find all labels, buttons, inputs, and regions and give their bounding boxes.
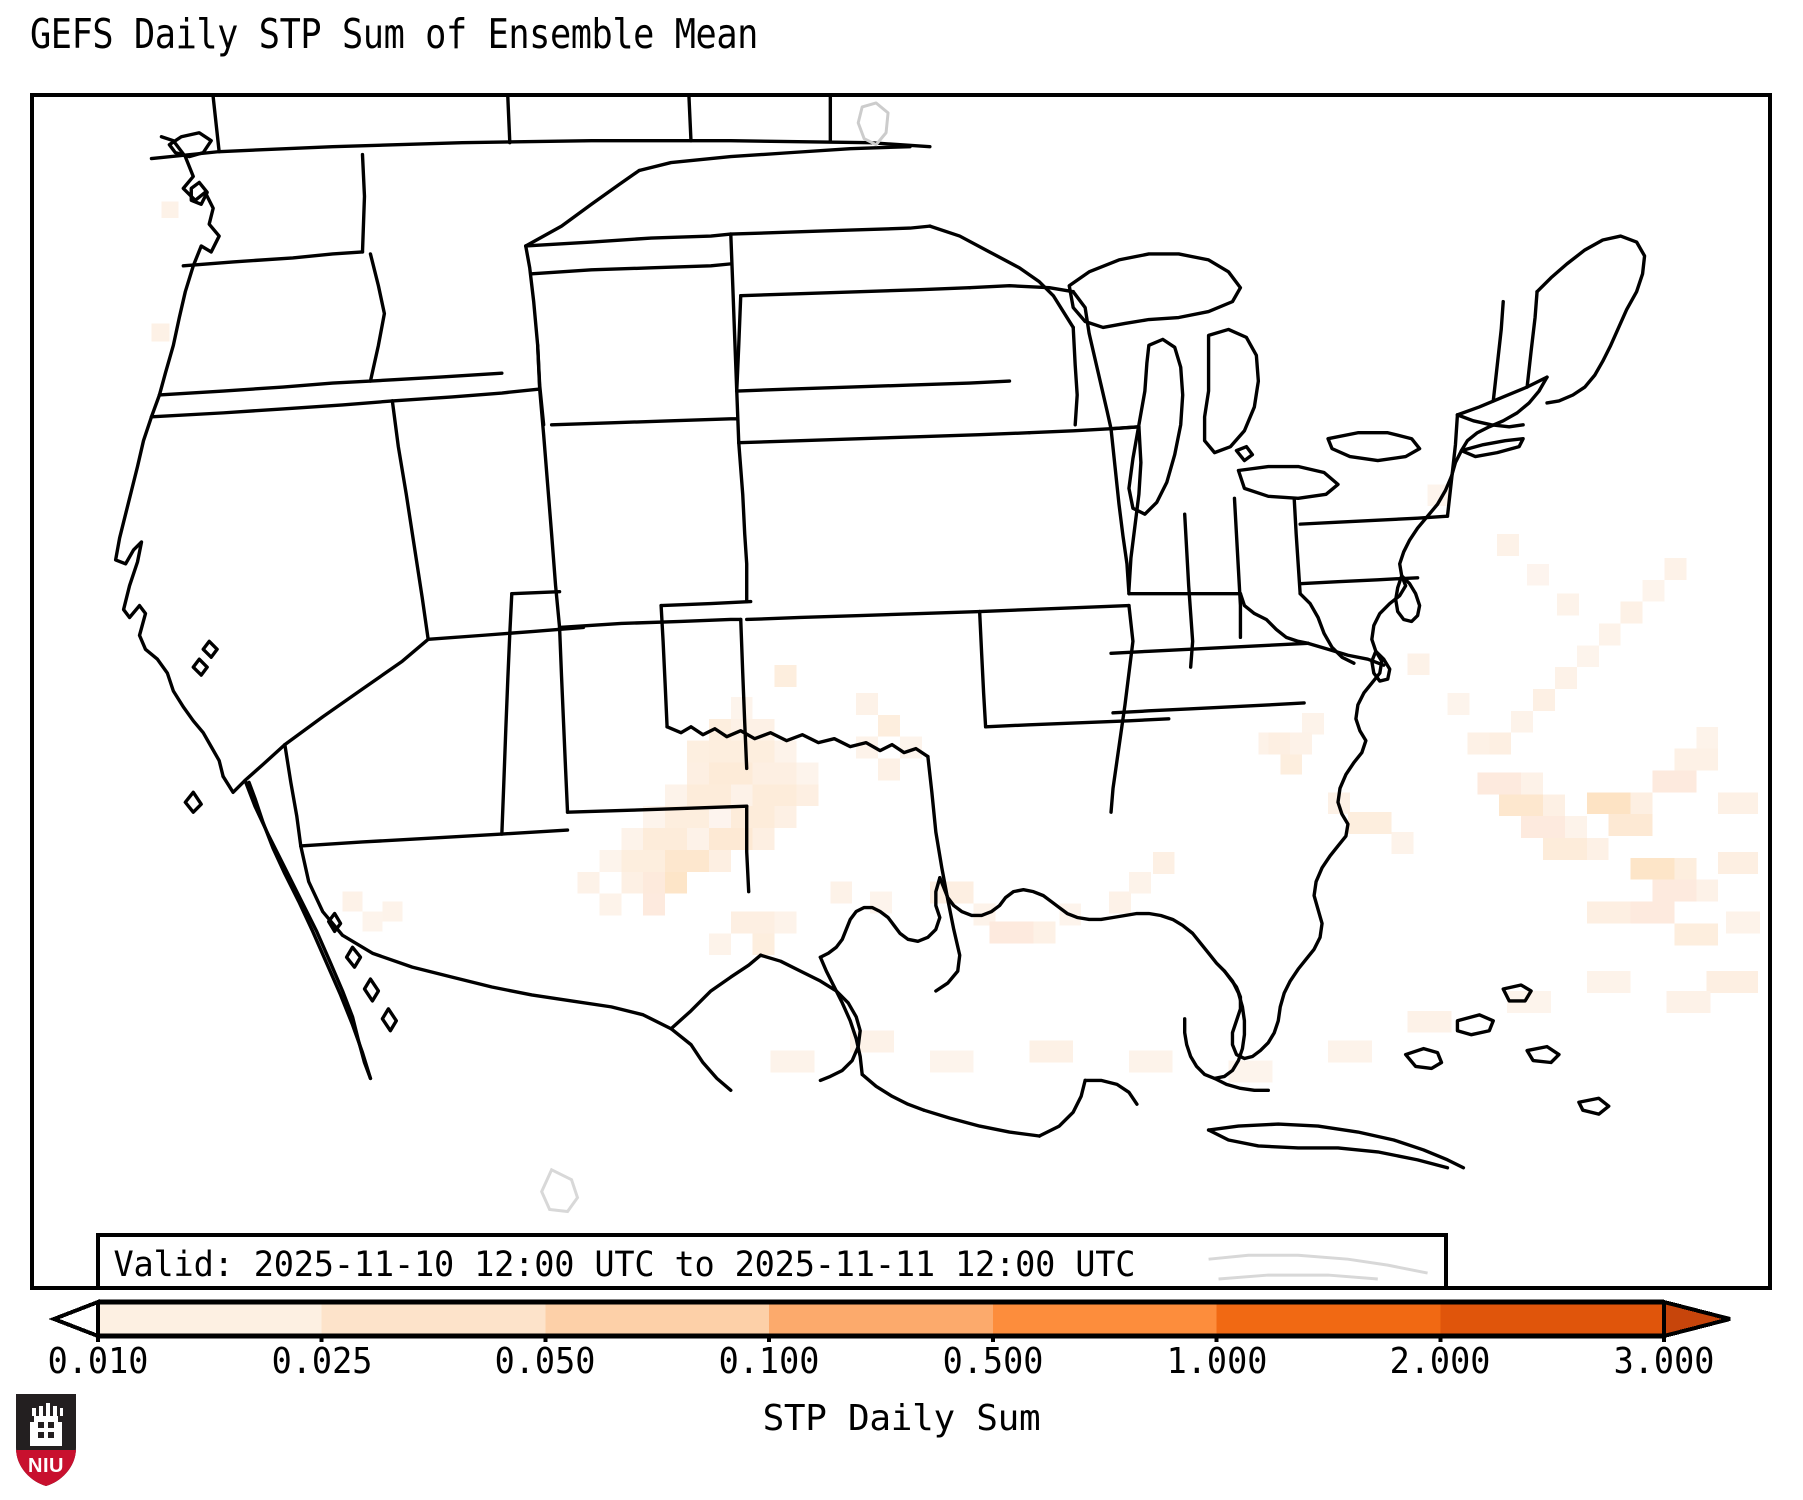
page-title: GEFS Daily STP Sum of Ensemble Mean — [30, 14, 758, 55]
colorbar-tick-label: 0.100 — [719, 1341, 820, 1382]
map-geography-layer — [34, 97, 1768, 1286]
svg-text:NIU: NIU — [28, 1455, 64, 1477]
niu-shield-logo: NIU — [12, 1392, 80, 1488]
colorbar-tick-label: 2.000 — [1390, 1341, 1491, 1382]
colorbar-band — [98, 1304, 322, 1334]
colorbar-tick-label: 1.000 — [1166, 1341, 1267, 1382]
colorbar-band — [322, 1304, 546, 1334]
colorbar-tick-label: 3.000 — [1614, 1341, 1715, 1382]
valid-run-annotation-box: Valid: 2025-11-10 12:00 UTC to 2025-11-1… — [96, 1233, 1448, 1290]
map-plot-frame: Valid: 2025-11-10 12:00 UTC to 2025-11-1… — [30, 93, 1772, 1290]
colorbar-tick-label: 0.025 — [271, 1341, 372, 1382]
colorbar-tick-label: 0.050 — [495, 1341, 596, 1382]
valid-time-line: Valid: 2025-11-10 12:00 UTC to 2025-11-1… — [100, 1241, 1390, 1290]
colorbar-band — [545, 1304, 769, 1334]
colorbar-band — [1440, 1304, 1664, 1334]
colorbar-tick-labels: 0.0100.0250.0500.1000.5001.0002.0003.000 — [0, 1341, 1803, 1391]
colorbar-band — [1217, 1304, 1441, 1334]
colorbar-band — [769, 1304, 993, 1334]
colorbar — [30, 1296, 1772, 1342]
colorbar-tick-label: 0.010 — [48, 1341, 149, 1382]
colorbar-tick-label: 0.500 — [942, 1341, 1043, 1382]
colorbar-band — [993, 1304, 1217, 1334]
colorbar-axis-label: STP Daily Sum — [0, 1398, 1803, 1439]
